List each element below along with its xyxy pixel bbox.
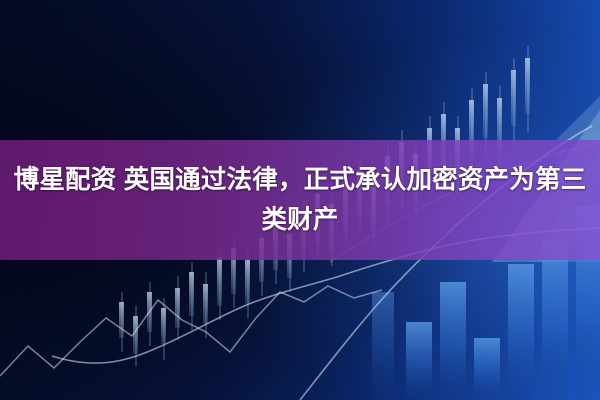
- headline-band-inner: 博星配资 英国通过法律，正式承认加密资产为第三类财产: [0, 160, 600, 240]
- banner-image: 博星配资 英国通过法律，正式承认加密资产为第三类财产: [0, 0, 600, 400]
- headline-band: 博星配资 英国通过法律，正式承认加密资产为第三类财产: [0, 140, 600, 260]
- headline-text: 博星配资 英国通过法律，正式承认加密资产为第三类财产: [6, 160, 594, 240]
